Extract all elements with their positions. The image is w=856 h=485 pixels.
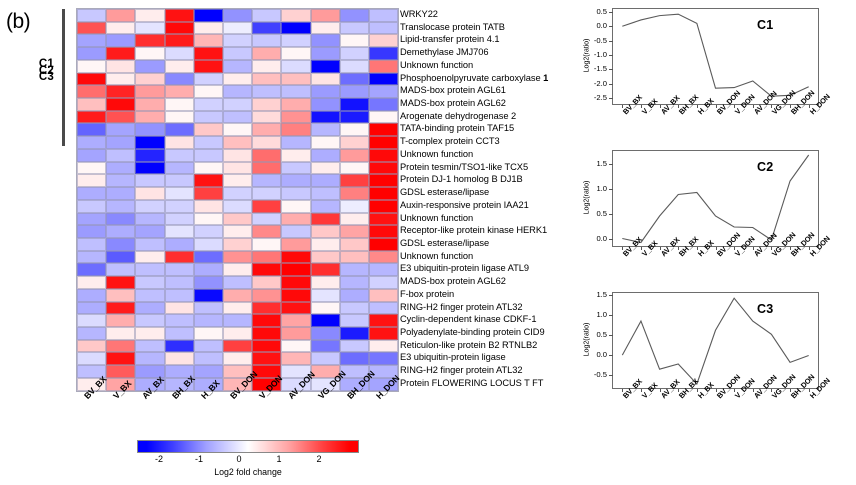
heatmap-cell	[135, 276, 164, 289]
heatmap-cell	[223, 22, 252, 35]
heatmap-cell	[194, 352, 223, 365]
heatmap-cell	[165, 289, 194, 302]
heatmap-cell	[311, 276, 340, 289]
heatmap-row-label: Protein DJ-1 homolog B DJ1B	[400, 173, 560, 186]
heatmap-cell	[106, 340, 135, 353]
heatmap-cell	[281, 289, 310, 302]
heatmap-cell	[340, 136, 369, 149]
heatmap-cell	[311, 149, 340, 162]
heatmap-cell	[106, 238, 135, 251]
heatmap-cell	[281, 174, 310, 187]
heatmap-cell	[165, 123, 194, 136]
heatmap-cell	[340, 111, 369, 124]
heatmap-cell	[369, 238, 398, 251]
heatmap-cell	[165, 340, 194, 353]
heatmap-cell	[106, 111, 135, 124]
heatmap-cell	[194, 340, 223, 353]
heatmap-row-label: Reticulon-like protein B2 RTNLB2	[400, 339, 560, 352]
heatmap-cell	[252, 289, 281, 302]
heatmap-cell	[223, 289, 252, 302]
heatmap-cell	[135, 327, 164, 340]
heatmap-cell	[369, 85, 398, 98]
heatmap-cell	[252, 136, 281, 149]
heatmap-cell	[223, 327, 252, 340]
heatmap-cell	[311, 352, 340, 365]
heatmap-cell	[165, 47, 194, 60]
heatmap-row-label: Polyadenylate-binding protein CID9	[400, 326, 560, 339]
heatmap-cell	[135, 340, 164, 353]
heatmap-cell	[165, 98, 194, 111]
heatmap-cell	[194, 162, 223, 175]
heatmap-cell	[281, 263, 310, 276]
chart-series-line	[613, 9, 818, 104]
heatmap-cell	[135, 251, 164, 264]
heatmap-cell	[252, 73, 281, 86]
heatmap-cell	[77, 73, 106, 86]
heatmap-cell	[340, 352, 369, 365]
heatmap-cell	[77, 174, 106, 187]
chart-y-tick-mark	[609, 41, 613, 42]
heatmap-cell	[223, 340, 252, 353]
cluster-bracket-c3	[62, 9, 65, 146]
heatmap-cell	[281, 22, 310, 35]
heatmap-cell	[223, 162, 252, 175]
heatmap-cell	[223, 60, 252, 73]
line-chart-c1: C1Log2(ratio)0.50.0-0.5-1.0-1.5-2.0-2.5B…	[565, 4, 851, 144]
heatmap-cell	[106, 365, 135, 378]
heatmap-cell	[340, 263, 369, 276]
heatmap-cell	[135, 162, 164, 175]
heatmap-cell	[369, 302, 398, 315]
heatmap-cell	[223, 123, 252, 136]
heatmap-cell	[369, 123, 398, 136]
chart-y-tick-label: 1.0	[581, 184, 607, 193]
heatmap-row-label: T-complex protein CCT3	[400, 135, 560, 148]
heatmap-cell	[135, 22, 164, 35]
heatmap-cell	[194, 251, 223, 264]
heatmap-cell	[223, 47, 252, 60]
heatmap-row-label: Auxin-responsive protein IAA21	[400, 199, 560, 212]
heatmap-cell	[340, 289, 369, 302]
heatmap-row-label: Receptor-like protein kinase HERK1	[400, 224, 560, 237]
heatmap-cell	[106, 22, 135, 35]
heatmap-cell	[106, 47, 135, 60]
heatmap-cell	[223, 98, 252, 111]
heatmap-cell	[281, 302, 310, 315]
chart-y-tick-mark	[609, 12, 613, 13]
heatmap-cell	[340, 98, 369, 111]
heatmap-cell	[252, 225, 281, 238]
heatmap-cell	[165, 238, 194, 251]
heatmap-cell	[77, 200, 106, 213]
heatmap-cell	[165, 225, 194, 238]
heatmap-cell	[252, 352, 281, 365]
chart-series-line	[613, 151, 818, 246]
heatmap-cell	[369, 314, 398, 327]
heatmap-cell	[252, 34, 281, 47]
heatmap-cell	[252, 22, 281, 35]
heatmap-cell	[106, 327, 135, 340]
heatmap-cell	[311, 174, 340, 187]
heatmap-cell	[311, 34, 340, 47]
heatmap-cell	[281, 327, 310, 340]
heatmap-cell	[106, 289, 135, 302]
heatmap-cell	[340, 302, 369, 315]
colorbar-title: Log2 fold change	[132, 467, 364, 477]
heatmap-cell	[223, 213, 252, 226]
heatmap-cell	[281, 340, 310, 353]
heatmap-cell	[194, 47, 223, 60]
heatmap-cell	[77, 47, 106, 60]
heatmap-row-label: Unknown function	[400, 59, 560, 72]
heatmap-cell	[311, 111, 340, 124]
heatmap-cell	[77, 136, 106, 149]
heatmap-cell	[223, 174, 252, 187]
heatmap-cell	[281, 73, 310, 86]
heatmap-cell	[281, 162, 310, 175]
heatmap-cell	[252, 47, 281, 60]
heatmap-cell	[281, 111, 310, 124]
heatmap-cell	[194, 314, 223, 327]
line-chart-c2: C2Log2(ratio)1.51.00.50.0BV_BXV_BXAV_BXB…	[565, 146, 851, 286]
heatmap-cell	[369, 263, 398, 276]
heatmap-cell	[106, 213, 135, 226]
heatmap-cell	[106, 276, 135, 289]
heatmap-cell	[165, 22, 194, 35]
heatmap-cell	[252, 327, 281, 340]
chart-y-tick-label: 0.5	[581, 7, 607, 16]
heatmap-cell	[135, 174, 164, 187]
heatmap-cell	[165, 327, 194, 340]
heatmap-cell	[135, 60, 164, 73]
heatmap-cell	[340, 327, 369, 340]
heatmap-cell	[281, 314, 310, 327]
heatmap-cell	[311, 314, 340, 327]
panel-label: (b)	[6, 10, 30, 34]
heatmap-cell	[106, 200, 135, 213]
heatmap-cell	[194, 276, 223, 289]
heatmap-cell	[223, 314, 252, 327]
heatmap-cell	[340, 200, 369, 213]
heatmap-cell	[106, 34, 135, 47]
heatmap-cell	[311, 136, 340, 149]
chart-series-line	[613, 293, 818, 388]
heatmap-row-label: Translocase protein TATB	[400, 21, 560, 34]
heatmap-cell	[252, 60, 281, 73]
colorbar-ticks: -2-1012	[132, 453, 364, 466]
heatmap-cell	[77, 340, 106, 353]
heatmap-cell	[223, 149, 252, 162]
chart-y-tick-mark	[609, 355, 613, 356]
heatmap-cell	[252, 314, 281, 327]
heatmap-cell	[106, 162, 135, 175]
heatmap-cell	[340, 149, 369, 162]
heatmap-cell	[135, 149, 164, 162]
heatmap-cell	[194, 34, 223, 47]
chart-y-tick-label: 1.0	[581, 310, 607, 319]
chart-y-tick-label: 0.0	[581, 350, 607, 359]
heatmap-cell	[252, 98, 281, 111]
heatmap-cell	[311, 251, 340, 264]
heatmap-row-label: RING-H2 finger protein ATL32	[400, 301, 560, 314]
heatmap-row-labels: WRKY22Translocase protein TATBLipid-tran…	[400, 8, 560, 390]
chart-title: C1	[757, 18, 773, 32]
heatmap-cell	[281, 136, 310, 149]
heatmap-cell	[165, 187, 194, 200]
heatmap-cell	[106, 174, 135, 187]
heatmap-cell	[311, 340, 340, 353]
colorbar-tick-label: -1	[195, 454, 203, 464]
heatmap-cell	[165, 251, 194, 264]
heatmap-row-label: Arogenate dehydrogenase 2	[400, 110, 560, 123]
heatmap-row-label: E3 ubiquitin-protein ligase	[400, 351, 560, 364]
colorbar-tick-label: 2	[316, 454, 321, 464]
heatmap-cell	[77, 314, 106, 327]
heatmap-cell	[135, 200, 164, 213]
heatmap-cell	[340, 85, 369, 98]
heatmap-cell	[77, 352, 106, 365]
heatmap-cell	[135, 213, 164, 226]
chart-y-tick-label: -1.5	[581, 64, 607, 73]
heatmap-cell	[135, 85, 164, 98]
heatmap-cell	[194, 98, 223, 111]
heatmap-cell	[135, 314, 164, 327]
heatmap-cell	[106, 85, 135, 98]
heatmap-cell	[311, 98, 340, 111]
colorbar-legend: -2-1012 Log2 fold change	[132, 440, 364, 477]
heatmap-cell	[281, 225, 310, 238]
heatmap-cell	[106, 314, 135, 327]
chart-y-tick-label: 0.5	[581, 330, 607, 339]
chart-y-tick-mark	[609, 69, 613, 70]
heatmap-cell	[369, 149, 398, 162]
heatmap-cell	[223, 187, 252, 200]
heatmap-cell	[135, 225, 164, 238]
heatmap-cell	[252, 263, 281, 276]
heatmap-cell	[340, 9, 369, 22]
heatmap-cell	[77, 263, 106, 276]
heatmap-cell	[311, 200, 340, 213]
colorbar-tick-label: -2	[155, 454, 163, 464]
heatmap-cell	[340, 22, 369, 35]
chart-y-tick-mark	[609, 315, 613, 316]
chart-y-tick-mark	[609, 26, 613, 27]
heatmap-cell	[223, 85, 252, 98]
chart-y-tick-label: -1.0	[581, 50, 607, 59]
heatmap-cell	[135, 352, 164, 365]
heatmap-cell	[135, 34, 164, 47]
heatmap-cell	[281, 149, 310, 162]
chart-y-tick-mark	[609, 84, 613, 85]
chart-y-tick-mark	[609, 189, 613, 190]
heatmap-cell	[281, 9, 310, 22]
heatmap-cell	[223, 276, 252, 289]
heatmap-cell	[369, 251, 398, 264]
heatmap-cell	[106, 225, 135, 238]
heatmap-row-label: GDSL esterase/lipase	[400, 237, 560, 250]
heatmap-cell	[106, 60, 135, 73]
heatmap-cell	[340, 340, 369, 353]
heatmap-row-label: Phosphoenolpyruvate carboxylase 1	[400, 72, 560, 85]
heatmap-cell	[194, 225, 223, 238]
chart-y-tick-label: 0.0	[581, 21, 607, 30]
heatmap-cell	[135, 123, 164, 136]
heatmap-cell	[77, 9, 106, 22]
heatmap-row-label: E3 ubiquitin-protein ligase ATL9	[400, 262, 560, 275]
heatmap-cell	[340, 174, 369, 187]
heatmap-cell	[340, 251, 369, 264]
heatmap-cell	[106, 73, 135, 86]
heatmap-cell	[135, 238, 164, 251]
heatmap-cell	[340, 314, 369, 327]
heatmap-cell	[369, 213, 398, 226]
heatmap-cell	[252, 9, 281, 22]
heatmap-cell	[194, 302, 223, 315]
heatmap-sample-labels: BV_BXV_BXAV_BXBH_BXH_BXBV_DONV_DONAV_DON…	[76, 394, 398, 440]
heatmap-cell	[106, 251, 135, 264]
heatmap-cell	[369, 352, 398, 365]
chart-y-tick-mark	[609, 55, 613, 56]
heatmap-cell	[223, 34, 252, 47]
heatmap-row-label: Lipid-transfer protein 4.1	[400, 33, 560, 46]
heatmap-cell	[194, 365, 223, 378]
heatmap-cell	[369, 136, 398, 149]
heatmap-cell	[194, 123, 223, 136]
heatmap-cell	[135, 263, 164, 276]
heatmap-row-label: MADS-box protein AGL62	[400, 97, 560, 110]
chart-y-tick-mark	[609, 98, 613, 99]
heatmap-cell	[106, 352, 135, 365]
heatmap-row-label: Unknown function	[400, 212, 560, 225]
heatmap-cell	[369, 111, 398, 124]
heatmap-cell	[369, 60, 398, 73]
heatmap-cell	[194, 60, 223, 73]
heatmap-cell	[77, 34, 106, 47]
heatmap-cell	[77, 276, 106, 289]
heatmap-cell	[165, 276, 194, 289]
heatmap-cell	[252, 111, 281, 124]
heatmap-cell	[311, 162, 340, 175]
heatmap-cell	[223, 225, 252, 238]
heatmap-cell	[77, 238, 106, 251]
heatmap-cell	[135, 289, 164, 302]
heatmap-cell	[135, 187, 164, 200]
heatmap-cell	[77, 123, 106, 136]
heatmap-cell	[165, 314, 194, 327]
chart-y-tick-label: -0.5	[581, 36, 607, 45]
chart-y-tick-mark	[609, 295, 613, 296]
heatmap-cell	[223, 352, 252, 365]
chart-y-tick-label: -2.0	[581, 79, 607, 88]
heatmap-cell	[223, 200, 252, 213]
heatmap-cell	[369, 73, 398, 86]
heatmap-cell	[252, 213, 281, 226]
heatmap-cell	[165, 136, 194, 149]
heatmap-cell	[194, 187, 223, 200]
colorbar-gradient	[137, 440, 359, 453]
heatmap-cell	[223, 73, 252, 86]
chart-y-tick-mark	[609, 164, 613, 165]
chart-y-tick-mark	[609, 375, 613, 376]
heatmap-cell	[369, 340, 398, 353]
heatmap-cell	[311, 73, 340, 86]
heatmap-cell	[165, 213, 194, 226]
heatmap-cell	[165, 149, 194, 162]
cluster-label-c3: C3	[24, 71, 54, 83]
heatmap-cell	[252, 187, 281, 200]
heatmap-cell	[106, 98, 135, 111]
heatmap-cell	[165, 200, 194, 213]
heatmap-cell	[340, 225, 369, 238]
heatmap-cell	[194, 136, 223, 149]
heatmap-cell	[252, 149, 281, 162]
heatmap-cell	[281, 200, 310, 213]
heatmap-cell	[340, 60, 369, 73]
heatmap-cell	[340, 238, 369, 251]
heatmap-cell	[165, 352, 194, 365]
heatmap-cell	[135, 111, 164, 124]
heatmap-cell	[194, 73, 223, 86]
heatmap-row-label: Unknown function	[400, 250, 560, 263]
heatmap-row-label: MADS-box protein AGL61	[400, 84, 560, 97]
heatmap-cell	[77, 98, 106, 111]
heatmap-cell	[340, 162, 369, 175]
heatmap-row-label: TATA-binding protein TAF15	[400, 122, 560, 135]
heatmap-cell	[311, 9, 340, 22]
heatmap-cell	[194, 327, 223, 340]
chart-y-tick-label: 1.5	[581, 159, 607, 168]
heatmap-cell	[340, 213, 369, 226]
heatmap-cell	[340, 73, 369, 86]
heatmap-cell	[252, 200, 281, 213]
heatmap-row-label: RING-H2 finger protein ATL32	[400, 364, 560, 377]
heatmap-cell	[223, 302, 252, 315]
heatmap-cell	[252, 174, 281, 187]
heatmap-cell	[369, 9, 398, 22]
heatmap-cell	[194, 263, 223, 276]
heatmap-cell	[369, 200, 398, 213]
heatmap-cell	[369, 187, 398, 200]
heatmap-cell	[223, 136, 252, 149]
heatmap-cell	[106, 123, 135, 136]
heatmap-cell	[311, 47, 340, 60]
heatmap-cell	[165, 85, 194, 98]
heatmap-cell	[77, 251, 106, 264]
heatmap-cell	[369, 98, 398, 111]
heatmap-cell	[135, 136, 164, 149]
heatmap-cell	[281, 187, 310, 200]
heatmap-row-label: Protein tesmin/TSO1-like TCX5	[400, 161, 560, 174]
heatmap-row-label: Demethylase JMJ706	[400, 46, 560, 59]
heatmap-cell	[311, 238, 340, 251]
heatmap-cell	[165, 34, 194, 47]
chart-y-tick-mark	[609, 335, 613, 336]
heatmap-cell	[281, 251, 310, 264]
heatmap-cell	[369, 225, 398, 238]
heatmap-cell	[311, 123, 340, 136]
heatmap-row-label: GDSL esterase/lipase	[400, 186, 560, 199]
chart-y-tick-label: 0.5	[581, 209, 607, 218]
heatmap-row-label: Cyclin-dependent kinase CDKF-1	[400, 313, 560, 326]
heatmap-cell	[135, 73, 164, 86]
heatmap-cell	[223, 263, 252, 276]
heatmap-cell	[311, 327, 340, 340]
heatmap-cell	[77, 187, 106, 200]
heatmap-cell	[281, 47, 310, 60]
heatmap-cell	[311, 302, 340, 315]
heatmap-cell	[106, 302, 135, 315]
chart-y-tick-label: 1.5	[581, 290, 607, 299]
